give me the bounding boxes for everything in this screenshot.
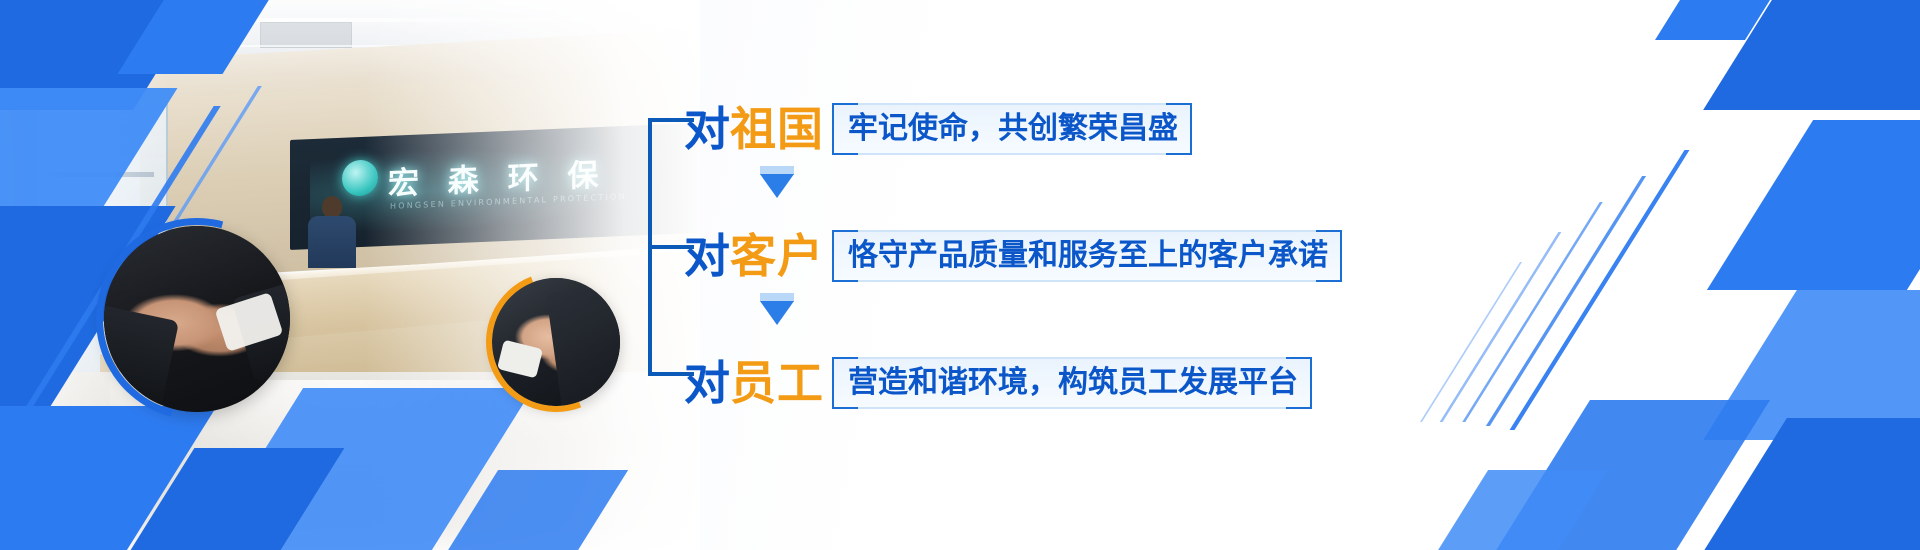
value-row-2: 对 客户 恪守产品质量和服务至上的客户承诺 [684,227,1342,285]
corporate-values-banner: 宏 森 环 保 HONGSEN ENVIRONMENTAL PROTECTION [0,0,1920,550]
value-keyword-2: 客户 [730,233,824,279]
value-row-3: 对 员工 营造和谐环境，构筑员工发展平台 [684,354,1312,412]
chevron-down-icon-2 [760,301,794,325]
value-prefix-3: 对 [684,360,730,406]
values-block: 对 祖国 牢记使命，共创繁荣昌盛 对 客户 恪守产品质量和服务至上的客户承诺 对… [648,78,1408,418]
chevron-down-icon-1 [760,174,794,198]
value-row-1: 对 祖国 牢记使命，共创繁荣昌盛 [684,100,1192,158]
value-statement-3: 营造和谐环境，构筑员工发展平台 [832,357,1312,409]
value-keyword-3: 员工 [730,360,824,406]
value-keyword-1: 祖国 [730,106,824,152]
value-statement-2: 恪守产品质量和服务至上的客户承诺 [832,230,1342,282]
value-statement-1: 牢记使命，共创繁荣昌盛 [832,103,1192,155]
value-prefix-2: 对 [684,233,730,279]
value-prefix-1: 对 [684,106,730,152]
